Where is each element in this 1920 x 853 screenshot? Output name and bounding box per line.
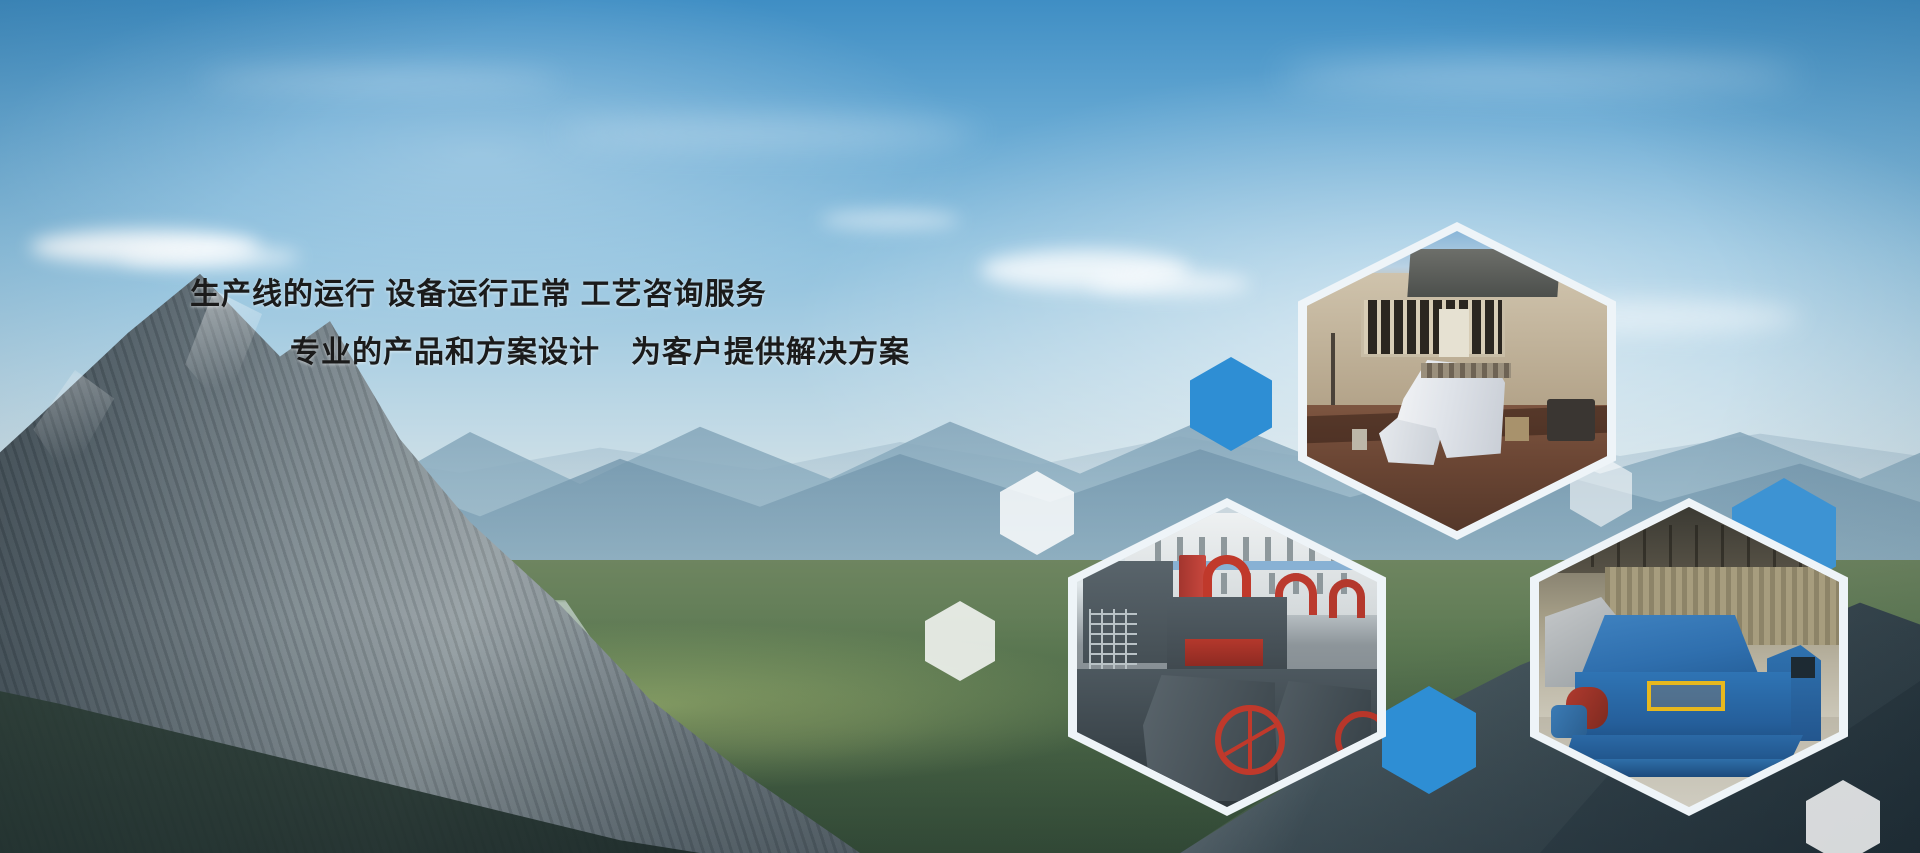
control-box — [1505, 417, 1529, 441]
banner-headline: 生产线的运行 设备运行正常 工艺咨询服务 专业的产品和方案设计 为客户提供解决方… — [190, 266, 950, 382]
window-pane — [1439, 309, 1469, 357]
red-column — [1179, 555, 1206, 603]
yellow-guard-rail — [1647, 681, 1725, 711]
bolt-flange — [1421, 363, 1511, 378]
cabinet-opening — [1791, 657, 1815, 678]
red-panel — [1185, 639, 1263, 666]
dark-equipment — [1547, 399, 1595, 441]
photo-clip — [1539, 507, 1839, 807]
photo-clip — [1077, 507, 1377, 807]
red-pipe — [1329, 579, 1365, 618]
red-handwheel — [1215, 705, 1285, 775]
headline-line-2: 专业的产品和方案设计 为客户提供解决方案 — [190, 324, 950, 382]
headline-line-1: 生产线的运行 设备运行正常 工艺咨询服务 — [190, 278, 767, 311]
photo-clip — [1307, 231, 1607, 531]
barred-window — [1361, 297, 1505, 357]
barrel — [1352, 429, 1367, 450]
red-pipe — [1203, 555, 1251, 603]
scaffold-rail — [1089, 609, 1137, 675]
pole — [1331, 333, 1335, 411]
hero-banner: 生产线的运行 设备运行正常 工艺咨询服务 专业的产品和方案设计 为客户提供解决方… — [0, 0, 1920, 853]
blue-motor-housing — [1551, 705, 1587, 738]
